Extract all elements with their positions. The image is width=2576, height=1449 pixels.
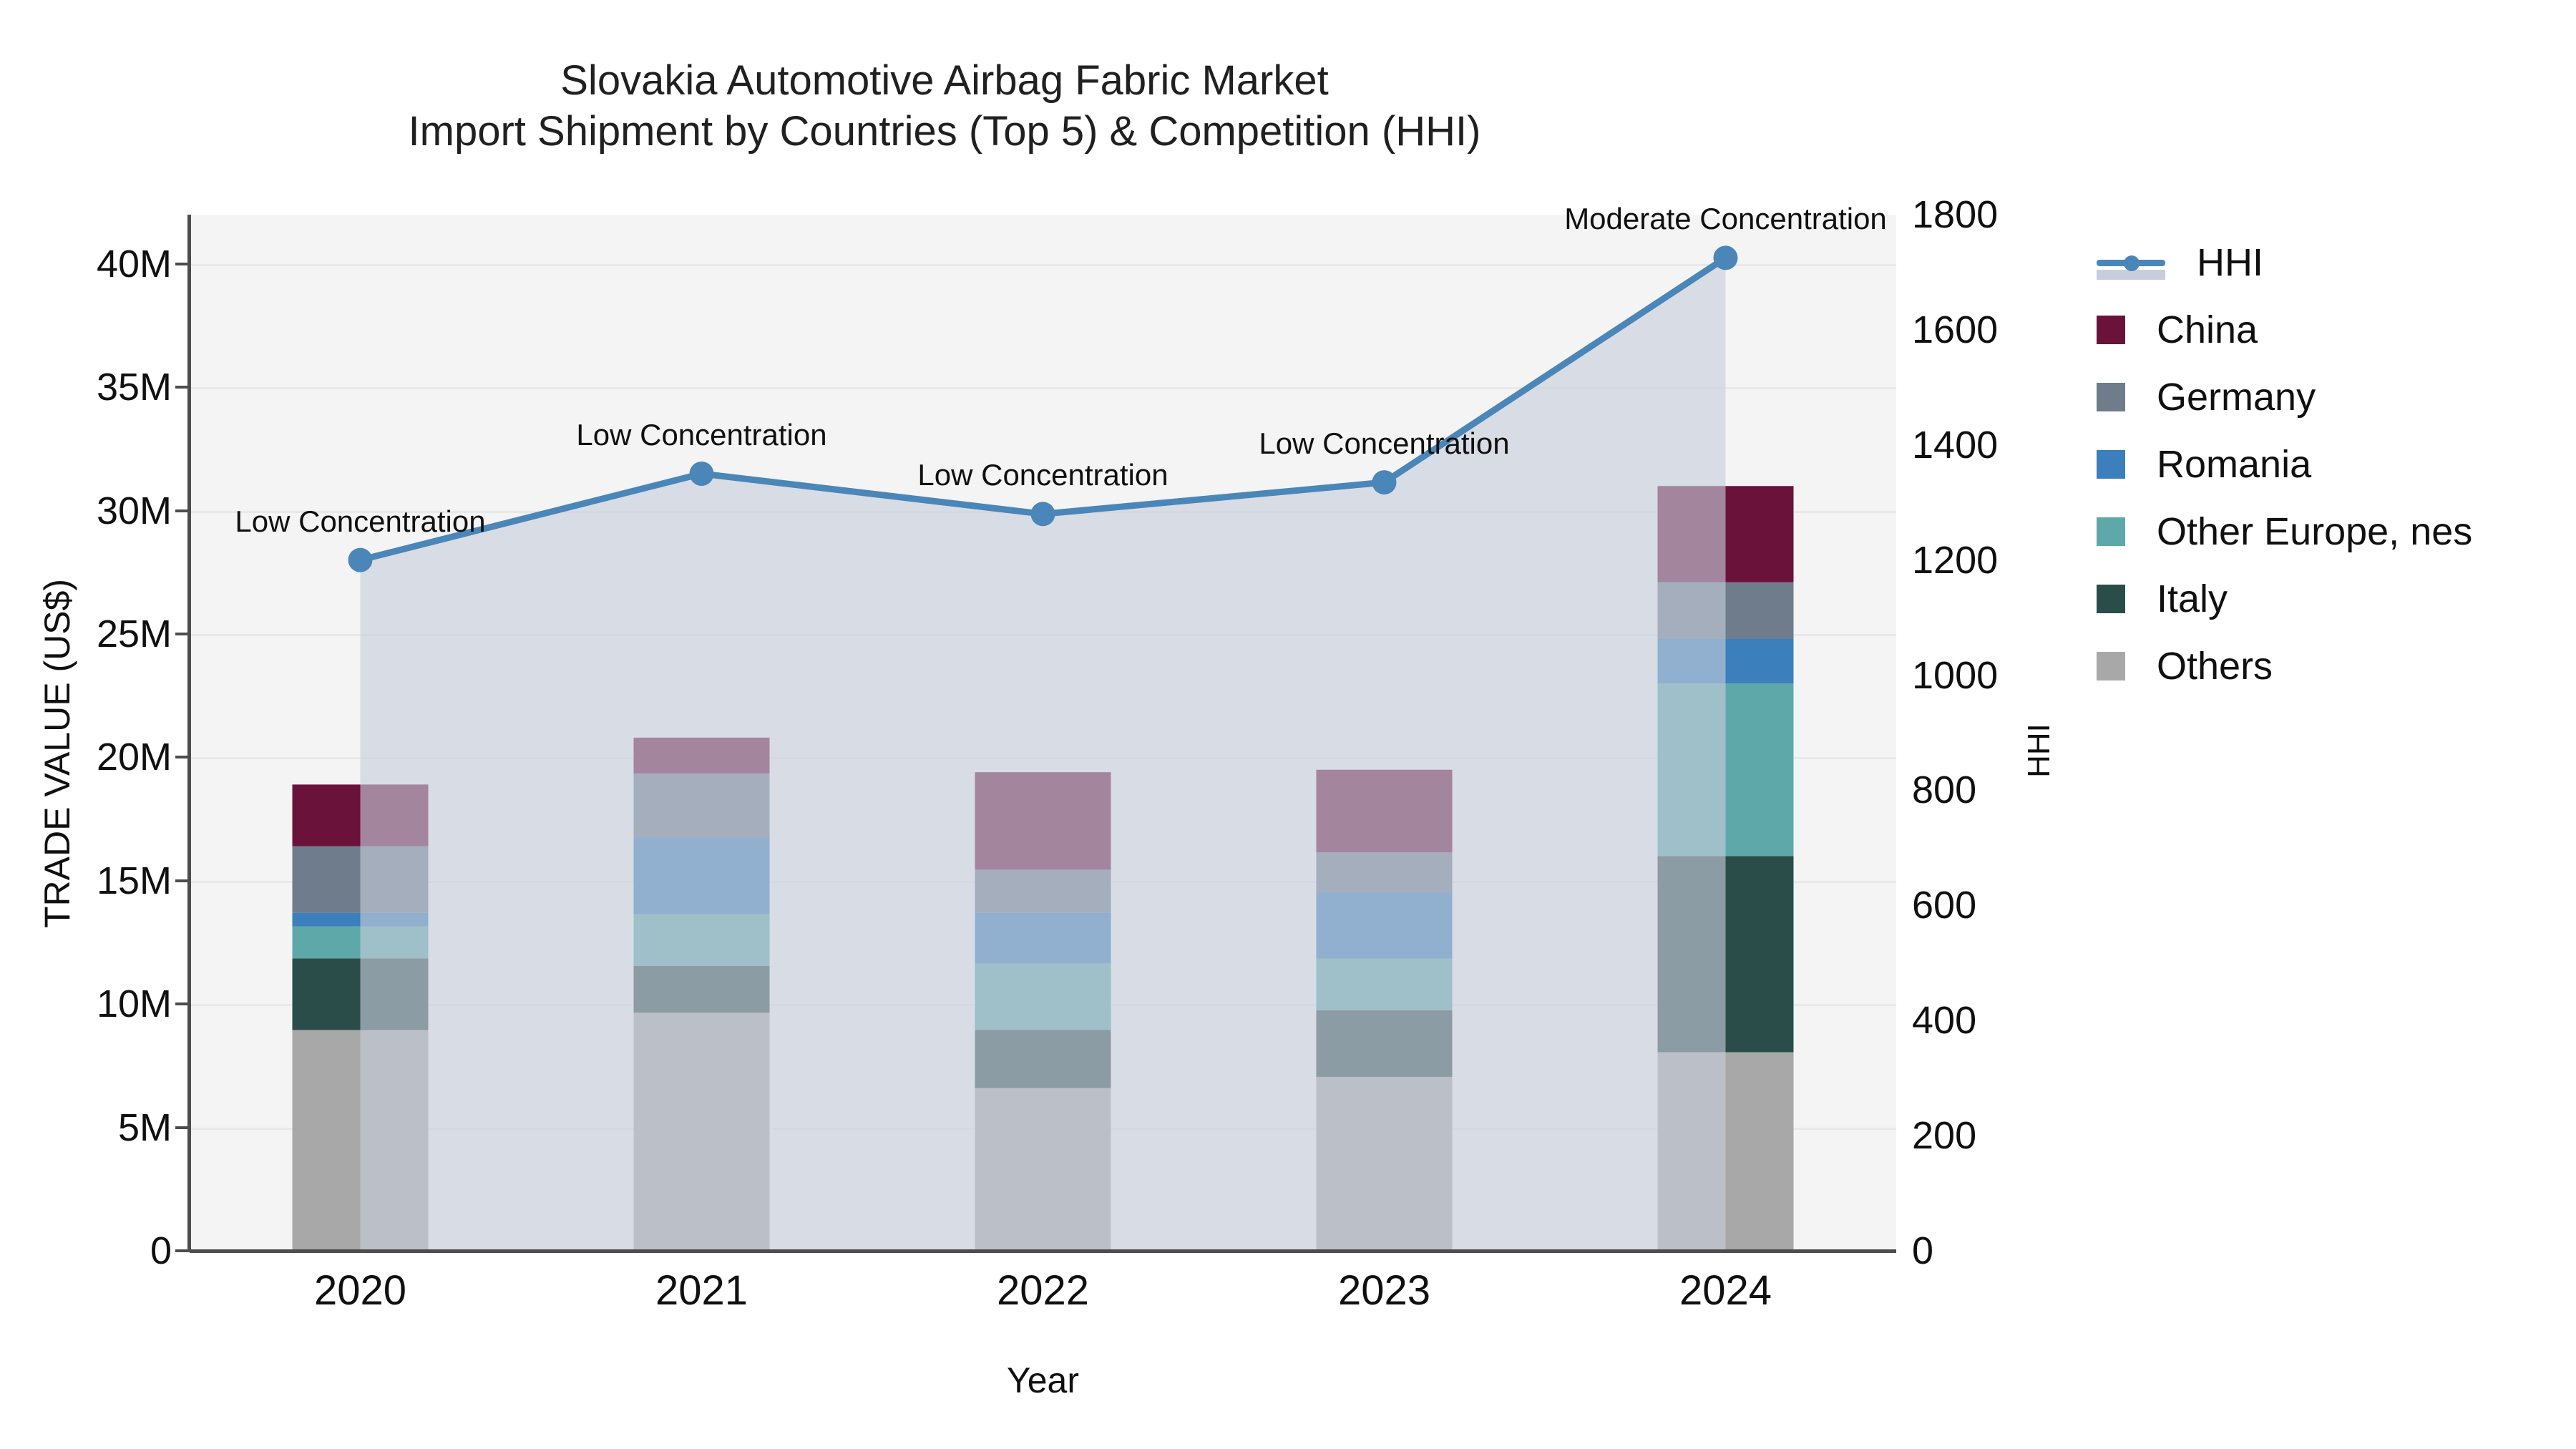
legend-item-label: Others: [2157, 644, 2273, 688]
legend-color-swatch: [2097, 652, 2125, 680]
chart-graphics-layer: [190, 215, 1896, 1251]
y-axis-tick-label: 10M: [7, 982, 172, 1026]
y-axis-tick-label: 35M: [7, 365, 172, 409]
legend-item-italy[interactable]: Italy: [2097, 565, 2555, 633]
y-axis-tick-label: 0: [7, 1229, 172, 1273]
legend-item-china[interactable]: China: [2097, 296, 2555, 364]
y-axis-line: [187, 215, 191, 1252]
y2-axis-tick-label: 1400: [1912, 423, 2091, 467]
y2-axis-tick-label: 1800: [1912, 192, 2091, 237]
x-axis-title: Year: [190, 1360, 1896, 1401]
legend-color-swatch: [2097, 585, 2125, 613]
y-axis-tick-label: 40M: [7, 242, 172, 286]
hhi-area-fill: [361, 258, 1726, 1251]
y-axis-tick-label: 30M: [7, 489, 172, 533]
hhi-annotation-label: Moderate Concentration: [1564, 202, 1887, 236]
y2-axis-tick-label: 800: [1912, 768, 2091, 812]
y-axis-tick-mark: [175, 1126, 190, 1129]
legend-area-swatch: [2097, 270, 2165, 280]
y-axis-tick-label: 20M: [7, 735, 172, 779]
y2-axis-tick-label: 600: [1912, 883, 2091, 927]
x-axis-tick-label: 2024: [1583, 1267, 1869, 1314]
hhi-annotation-label: Low Concentration: [235, 504, 485, 539]
hhi-annotation-label: Low Concentration: [576, 418, 826, 452]
title-line-2: Import Shipment by Countries (Top 5) & C…: [0, 107, 1889, 157]
y-axis-tick-mark: [175, 756, 190, 758]
x-axis-tick-label: 2021: [559, 1267, 845, 1314]
y2-axis-tick-label: 1000: [1912, 653, 2091, 698]
chart-legend: HHIChinaGermanyRomaniaOther Europe, nesI…: [2097, 229, 2555, 700]
y-axis-tick-mark: [175, 1249, 190, 1252]
y-axis-tick-mark: [175, 386, 190, 389]
legend-color-swatch: [2097, 517, 2125, 546]
x-axis-tick-label: 2020: [218, 1267, 504, 1314]
title-line-1: Slovakia Automotive Airbag Fabric Market: [0, 56, 1889, 107]
y-axis-tick-label: 25M: [7, 612, 172, 656]
y-axis-tick-mark: [175, 1002, 190, 1005]
y-axis-tick-mark: [175, 263, 190, 265]
legend-item-label: China: [2157, 308, 2258, 352]
legend-item-hhi[interactable]: HHI: [2097, 229, 2555, 296]
legend-item-label: Other Europe, nes: [2157, 509, 2472, 554]
y2-axis-tick-label: 1600: [1912, 308, 2091, 352]
hhi-marker[interactable]: [690, 462, 714, 486]
y-axis-tick-label: 15M: [7, 859, 172, 903]
y-axis-title: TRADE VALUE (US$): [36, 482, 78, 1025]
y-axis-tick-label: 5M: [7, 1106, 172, 1150]
chart-canvas: Slovakia Automotive Airbag Fabric Market…: [0, 0, 2576, 1449]
hhi-annotation-label: Low Concentration: [917, 458, 1168, 492]
hhi-annotation-label: Low Concentration: [1259, 426, 1509, 461]
legend-line-dot: [2124, 255, 2140, 271]
legend-item-label: Romania: [2157, 442, 2311, 487]
legend-item-other-europe-nes[interactable]: Other Europe, nes: [2097, 498, 2555, 565]
legend-color-swatch: [2097, 450, 2125, 479]
legend-line-marker: [2097, 248, 2165, 277]
y-axis-tick-mark: [175, 633, 190, 635]
legend-item-germany[interactable]: Germany: [2097, 364, 2555, 431]
chart-title: Slovakia Automotive Airbag Fabric Market…: [0, 56, 1889, 157]
y2-axis-title: HHI: [2021, 479, 2057, 1023]
hhi-marker[interactable]: [1714, 245, 1738, 270]
legend-item-label: HHI: [2197, 240, 2263, 285]
y2-axis-tick-label: 1200: [1912, 538, 2091, 582]
legend-item-romania[interactable]: Romania: [2097, 431, 2555, 498]
x-axis-line: [190, 1249, 1896, 1253]
legend-color-swatch: [2097, 316, 2125, 344]
y2-axis-tick-label: 400: [1912, 998, 2091, 1043]
y-axis-tick-mark: [175, 879, 190, 882]
y2-axis-tick-label: 0: [1912, 1229, 2091, 1273]
legend-item-label: Italy: [2157, 577, 2228, 621]
legend-item-others[interactable]: Others: [2097, 633, 2555, 700]
hhi-marker[interactable]: [1031, 502, 1055, 526]
legend-color-swatch: [2097, 383, 2125, 411]
legend-item-label: Germany: [2157, 375, 2316, 419]
x-axis-tick-label: 2022: [900, 1267, 1186, 1314]
y2-axis-tick-label: 200: [1912, 1113, 2091, 1158]
hhi-marker[interactable]: [1372, 470, 1397, 494]
y-axis-tick-mark: [175, 509, 190, 512]
hhi-marker[interactable]: [348, 548, 373, 572]
x-axis-tick-label: 2023: [1241, 1267, 1528, 1314]
